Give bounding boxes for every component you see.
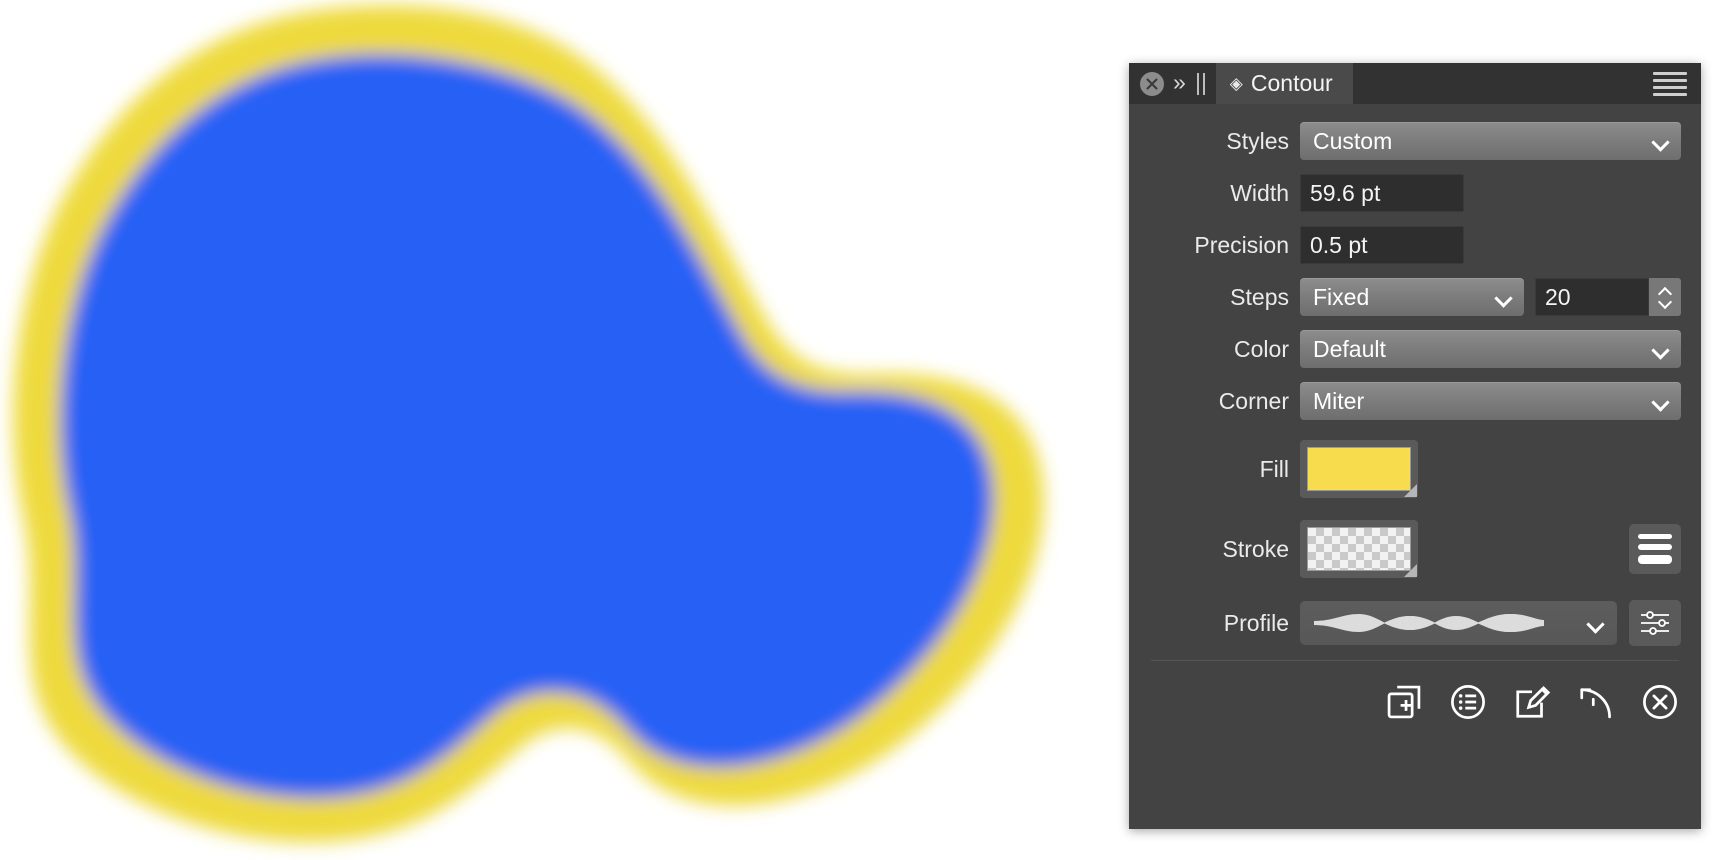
stroke-weights-icon[interactable] (1629, 524, 1681, 574)
steps-mode-value: Fixed (1313, 284, 1369, 311)
profile-label: Profile (1129, 610, 1300, 637)
variable-width-wave-preview (1314, 608, 1544, 638)
corner-label: Corner (1129, 388, 1300, 415)
contoured-blob-artwork[interactable] (0, 0, 1130, 860)
color-label: Color (1129, 336, 1300, 363)
sort-updown-icon: ◈ (1230, 75, 1243, 92)
chevron-down-icon (1653, 136, 1670, 146)
tab-contour[interactable]: ◈ Contour (1216, 63, 1353, 104)
row-color: Color Default (1129, 330, 1701, 368)
sliders-icon[interactable] (1629, 600, 1681, 646)
stepper-down-icon[interactable] (1658, 299, 1672, 307)
row-steps: Steps Fixed 20 (1129, 278, 1701, 316)
corner-value: Miter (1313, 388, 1364, 415)
close-x-glyph (1145, 77, 1159, 91)
steps-count-stepper[interactable]: 20 (1535, 278, 1681, 316)
chevron-down-icon (1496, 292, 1513, 302)
expand-contour-icon[interactable] (1577, 683, 1615, 721)
chevron-down-icon (1653, 344, 1670, 354)
header-spacer (1353, 63, 1653, 104)
tab-label: Contour (1251, 70, 1333, 97)
fill-swatch[interactable] (1300, 440, 1418, 498)
shape-fill (61, 55, 993, 798)
stepper-buttons[interactable] (1649, 278, 1681, 316)
color-dropdown[interactable]: Default (1300, 330, 1681, 368)
row-corner: Corner Miter (1129, 382, 1701, 420)
width-value: 59.6 pt (1310, 180, 1380, 207)
row-profile: Profile (1129, 600, 1701, 646)
width-label: Width (1129, 180, 1300, 207)
steps-label: Steps (1129, 284, 1300, 311)
row-stroke: Stroke (1129, 520, 1701, 578)
stroke-swatch[interactable] (1300, 520, 1418, 578)
precision-value: 0.5 pt (1310, 232, 1368, 259)
row-styles: Styles Custom (1129, 122, 1701, 160)
delete-circle-icon[interactable] (1641, 683, 1679, 721)
steps-count-input[interactable]: 20 (1535, 278, 1649, 316)
styles-label: Styles (1129, 128, 1300, 155)
double-chevron-right-icon[interactable]: » (1173, 71, 1184, 94)
swatch-corner-marker (1404, 564, 1417, 577)
row-precision: Precision 0.5 pt (1129, 226, 1701, 264)
row-fill: Fill (1129, 440, 1701, 498)
row-width: Width 59.6 pt (1129, 174, 1701, 212)
precision-label: Precision (1129, 232, 1300, 259)
edit-pencil-icon[interactable] (1513, 683, 1551, 721)
swatch-corner-marker (1404, 484, 1417, 497)
corner-dropdown[interactable]: Miter (1300, 382, 1681, 420)
chevron-down-icon (1653, 396, 1670, 406)
chevron-down-icon (1588, 618, 1605, 628)
panel-header-left: » (1129, 63, 1216, 104)
hamburger-menu-icon[interactable] (1653, 63, 1701, 104)
stroke-swatch-color (1307, 527, 1411, 571)
fill-label: Fill (1129, 456, 1300, 483)
styles-value: Custom (1313, 128, 1392, 155)
sliders-glyph (1639, 608, 1671, 638)
styles-dropdown[interactable]: Custom (1300, 122, 1681, 160)
width-input[interactable]: 59.6 pt (1300, 174, 1464, 212)
panel-body: Styles Custom Width 59.6 pt Precision (1129, 104, 1701, 721)
stroke-label: Stroke (1129, 536, 1300, 563)
panel-bottom-toolbar (1129, 661, 1701, 721)
drag-grip-icon[interactable] (1197, 73, 1205, 95)
panel-header: » ◈ Contour (1129, 63, 1701, 104)
duplicate-add-icon[interactable] (1385, 683, 1423, 721)
steps-mode-dropdown[interactable]: Fixed (1300, 278, 1524, 316)
close-circle-icon[interactable] (1140, 72, 1164, 96)
fill-swatch-color (1307, 447, 1411, 491)
color-value: Default (1313, 336, 1386, 363)
steps-count-value: 20 (1545, 284, 1571, 311)
profile-dropdown[interactable] (1300, 601, 1617, 645)
list-circle-icon[interactable] (1449, 683, 1487, 721)
precision-input[interactable]: 0.5 pt (1300, 226, 1464, 264)
contour-panel: » ◈ Contour Styles Custom Width (1129, 63, 1701, 829)
